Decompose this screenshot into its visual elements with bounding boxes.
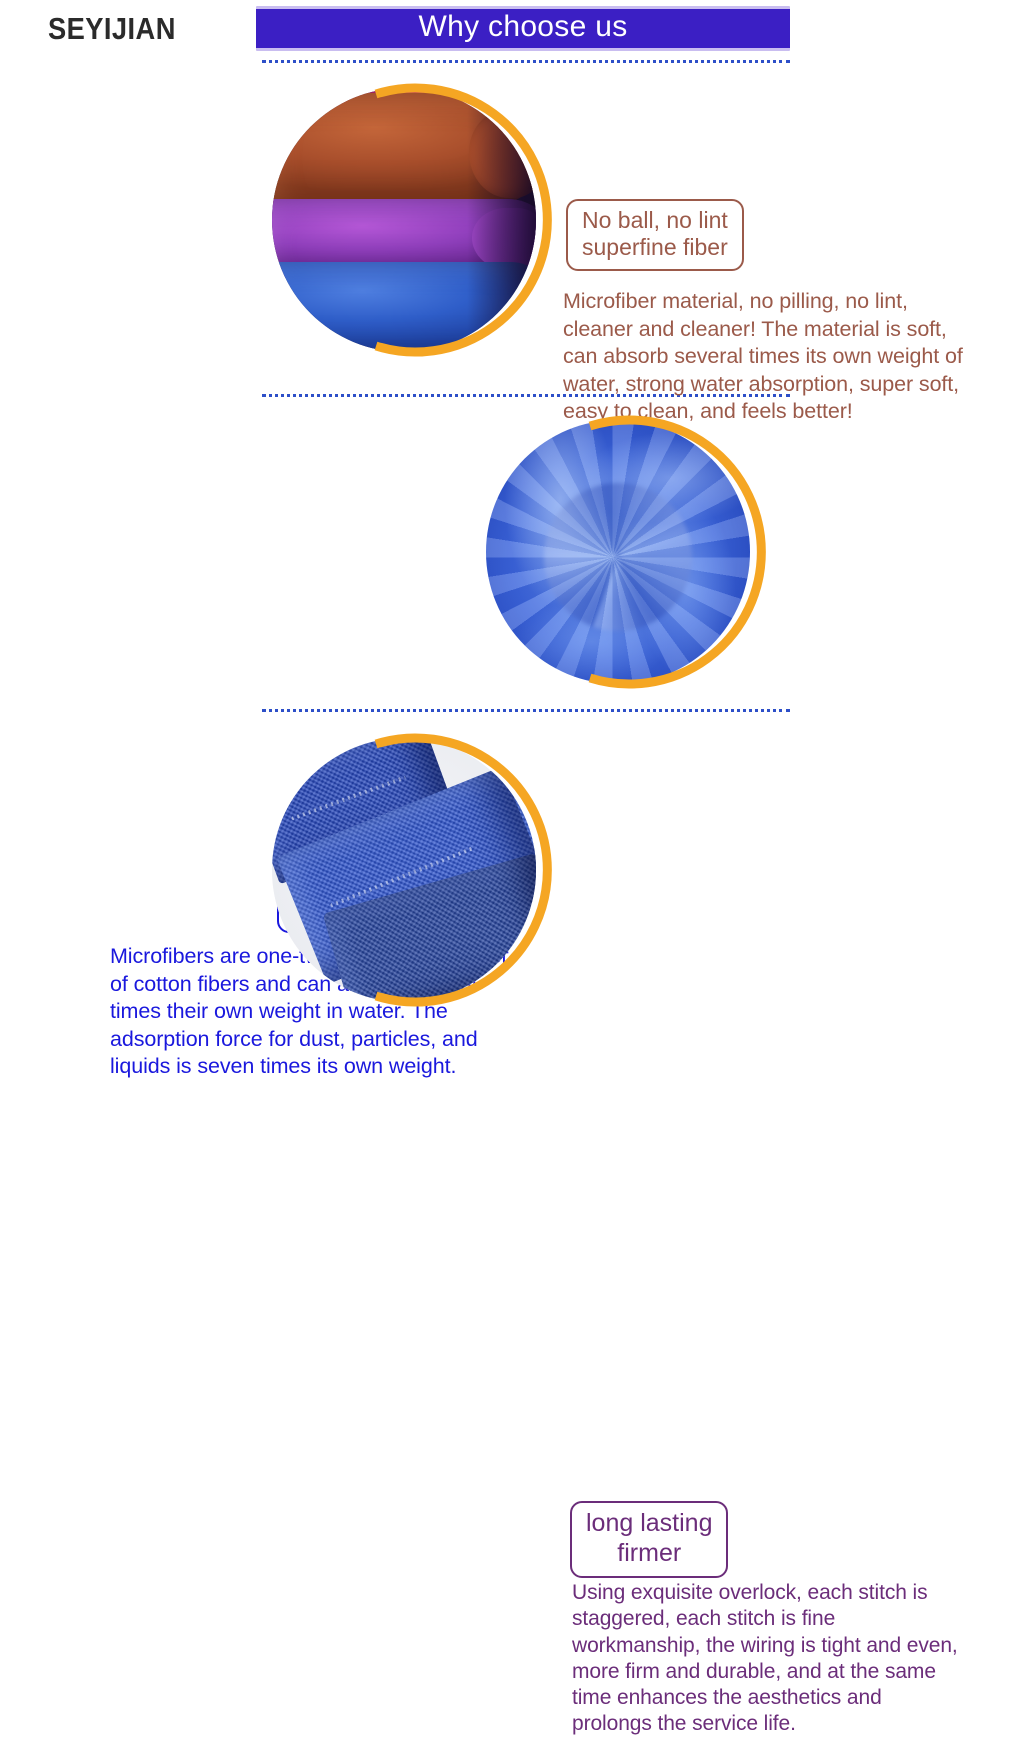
infographic-page: SEYIJIAN Why choose us bbox=[0, 0, 1024, 1024]
badge-1-line2: superfine fiber bbox=[582, 234, 728, 261]
divider-2 bbox=[262, 709, 790, 712]
badge-3-line2: firmer bbox=[586, 1539, 712, 1569]
brand-logo: SEYIJIAN bbox=[48, 11, 176, 47]
divider-top bbox=[262, 60, 790, 63]
feature-image-2 bbox=[486, 406, 778, 698]
badge-1-line1: No ball, no lint bbox=[582, 207, 728, 234]
badge-3-line1: long lasting bbox=[586, 1509, 712, 1539]
banner-fill: Why choose us bbox=[256, 9, 790, 48]
feature-image-1 bbox=[272, 74, 564, 366]
photo-shadow bbox=[467, 88, 536, 352]
section-long-lasting: long lasting firmer Using exquisite over… bbox=[0, 716, 1024, 1016]
photo-swirl-cloth bbox=[486, 420, 750, 684]
banner-title: Why choose us bbox=[419, 12, 628, 45]
section-no-ball-no-lint: No ball, no lint superfine fiber Microfi… bbox=[0, 68, 1024, 386]
photo-folded-cloth bbox=[272, 738, 536, 1002]
header: SEYIJIAN Why choose us bbox=[0, 0, 1024, 62]
photo-towel-stack bbox=[272, 88, 536, 352]
banner: Why choose us bbox=[256, 6, 790, 51]
feature-image-3 bbox=[272, 724, 564, 1016]
badge-1: No ball, no lint superfine fiber bbox=[566, 199, 744, 271]
section-super-detergency: Super detergency Super vacuum Microfiber… bbox=[0, 402, 1024, 702]
paragraph-3: Using exquisite overlock, each stitch is… bbox=[572, 1580, 964, 1738]
photo-art bbox=[272, 738, 536, 1002]
photo-art bbox=[272, 88, 536, 352]
badge-3: long lasting firmer bbox=[570, 1501, 728, 1578]
photo-art bbox=[486, 420, 750, 684]
